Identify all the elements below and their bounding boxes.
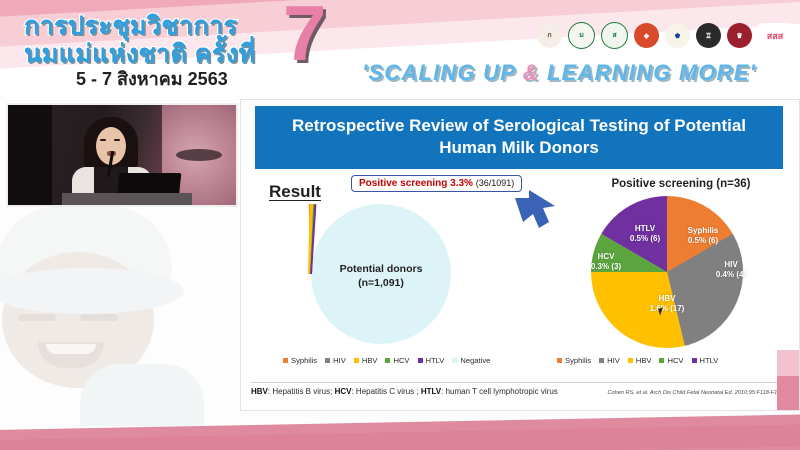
positive-screening-pie-title: Positive screening (n=36) bbox=[571, 178, 791, 190]
legend-potential-donors: Syphilis HIV HBV HCV HTLV Negative bbox=[283, 356, 490, 365]
legend-swatch-hiv-left bbox=[325, 358, 330, 363]
legend-swatch-syphilis-left bbox=[283, 358, 288, 363]
legend-label-hbv-left: HBV bbox=[362, 356, 378, 365]
logo-royal-seal-icon: ก bbox=[537, 23, 562, 48]
legend-label-htlv-right: HTLV bbox=[700, 356, 719, 365]
baby-watermark-image bbox=[0, 206, 204, 420]
conference-banner: การประชุมวิชาการ นมแม่แห่งชาติ ครั้งที่ … bbox=[0, 0, 800, 96]
logo-blue-crest-icon: ♚ bbox=[665, 23, 690, 48]
tagline-part-1: 'SCALING UP bbox=[362, 60, 523, 85]
legend-swatch-htlv-left bbox=[418, 358, 423, 363]
baby-eye-left bbox=[18, 314, 56, 321]
legend-item-hiv-left: HIV bbox=[325, 356, 346, 365]
pie-label-hcv-name: HCV bbox=[581, 252, 631, 262]
screen-root: การประชุมวิชาการ นมแม่แห่งชาติ ครั้งที่ … bbox=[0, 0, 800, 450]
slide-pink-accent-upper bbox=[777, 350, 799, 376]
pie-label-syphilis: Syphilis 0.5% (6) bbox=[673, 226, 733, 247]
slide-citation: Cohen RS, et al. Arch Dis Child Fetal Ne… bbox=[607, 390, 791, 396]
baby-teeth bbox=[46, 344, 96, 354]
tagline-ampersand: & bbox=[523, 60, 540, 85]
legend-swatch-hbv-left bbox=[354, 358, 359, 363]
callout-highlight-text: Positive screening 3.3% bbox=[359, 178, 473, 189]
positive-screening-callout: Positive screening 3.3% (36/1091) bbox=[351, 175, 522, 192]
legend-label-hiv-right: HIV bbox=[607, 356, 620, 365]
pie-label-hbv: HBV 1.6% (17) bbox=[637, 294, 697, 315]
logo-maroon-seal-icon: ♛ bbox=[727, 23, 752, 48]
pie-label-hiv: HIV 0.4% (4) bbox=[707, 260, 755, 281]
banner-edition-number: 7 bbox=[283, 0, 326, 72]
abbrev-hbv: HBV bbox=[251, 387, 268, 396]
logo-black-seal-icon: ♖ bbox=[696, 23, 721, 48]
pie-label-htlv-value: 0.5% (6) bbox=[619, 234, 671, 244]
sponsor-logo-row: ก ม ส ◈ ♚ ♖ ♛ สสส bbox=[537, 22, 792, 49]
legend-item-syphilis-right: Syphilis bbox=[557, 356, 591, 365]
slide-title: Retrospective Review of Serological Test… bbox=[255, 106, 783, 169]
baby-hat-brim bbox=[0, 268, 184, 314]
callout-detail-text: (36/1091) bbox=[476, 178, 515, 188]
banner-tagline: 'SCALING UP & LEARNING MORE' bbox=[362, 60, 756, 86]
abbrev-hcv: HCV bbox=[335, 387, 352, 396]
pie-label-syphilis-value: 0.5% (6) bbox=[673, 236, 733, 246]
logo-sss-wordmark-icon: สสส bbox=[758, 23, 792, 48]
legend-item-hiv-right: HIV bbox=[599, 356, 620, 365]
pie-label-hiv-value: 0.4% (4) bbox=[707, 270, 755, 280]
legend-label-hcv-right: HCV bbox=[667, 356, 683, 365]
legend-label-hcv-left: HCV bbox=[393, 356, 409, 365]
abbreviation-key: HBV: Hepatitis B virus; HCV: Hepatitis C… bbox=[251, 387, 558, 396]
baby-eye-right bbox=[80, 314, 118, 321]
speaker-eye-right bbox=[114, 139, 120, 141]
legend-label-hbv-right: HBV bbox=[636, 356, 652, 365]
video-dark-left-panel bbox=[8, 105, 52, 205]
potential-donors-center-label: Potential donors (n=1,091) bbox=[301, 262, 461, 290]
legend-swatch-hcv-right bbox=[659, 358, 664, 363]
speaker-video-panel[interactable] bbox=[6, 103, 238, 207]
video-blurred-eye bbox=[176, 149, 222, 161]
legend-swatch-syphilis-right bbox=[557, 358, 562, 363]
legend-label-syphilis-right: Syphilis bbox=[565, 356, 591, 365]
legend-item-syphilis-left: Syphilis bbox=[283, 356, 317, 365]
down-right-arrow-icon bbox=[513, 188, 557, 232]
legend-swatch-hcv-left bbox=[385, 358, 390, 363]
legend-swatch-negative-left bbox=[452, 358, 457, 363]
legend-label-negative-left: Negative bbox=[460, 356, 490, 365]
pie-label-hbv-name: HBV bbox=[637, 294, 697, 304]
result-heading: Result bbox=[269, 182, 321, 202]
logo-green-circle-icon: ส bbox=[601, 22, 628, 49]
podium bbox=[62, 193, 192, 207]
speaker-eye-left bbox=[100, 139, 106, 141]
pie-label-syphilis-name: Syphilis bbox=[673, 226, 733, 236]
potential-donors-label-line1: Potential donors bbox=[301, 262, 461, 276]
legend-item-hcv-left: HCV bbox=[385, 356, 409, 365]
bottom-decorative-band bbox=[0, 412, 800, 450]
slide-footnote: HBV: Hepatitis B virus; HCV: Hepatitis C… bbox=[251, 382, 791, 396]
abbrev-htlv-desc: : human T cell lymphotropic virus bbox=[441, 387, 558, 396]
tagline-part-2: LEARNING MORE' bbox=[540, 60, 756, 85]
legend-item-htlv-right: HTLV bbox=[692, 356, 719, 365]
legend-item-htlv-left: HTLV bbox=[418, 356, 445, 365]
pie-label-hiv-name: HIV bbox=[707, 260, 755, 270]
presentation-slide: Retrospective Review of Serological Test… bbox=[240, 99, 800, 411]
legend-swatch-hiv-right bbox=[599, 358, 604, 363]
legend-label-htlv-left: HTLV bbox=[426, 356, 445, 365]
pie-label-hbv-value: 1.6% (17) bbox=[637, 304, 697, 314]
pie-label-hcv: HCV 0.3% (3) bbox=[581, 252, 631, 273]
slide-pink-accent-lower bbox=[777, 376, 799, 410]
pie-label-htlv: HTLV 0.5% (6) bbox=[619, 224, 671, 245]
logo-green-shield-icon: ม bbox=[568, 22, 595, 49]
pie-label-htlv-name: HTLV bbox=[619, 224, 671, 234]
abbrev-htlv: HTLV bbox=[421, 387, 441, 396]
legend-item-hcv-right: HCV bbox=[659, 356, 683, 365]
pie-label-hcv-value: 0.3% (3) bbox=[581, 262, 631, 272]
banner-conference-date: 5 - 7 สิงหาคม 2563 bbox=[76, 64, 228, 93]
legend-item-hbv-left: HBV bbox=[354, 356, 378, 365]
potential-donors-label-line2: (n=1,091) bbox=[301, 276, 461, 290]
abbrev-hbv-desc: : Hepatitis B virus; bbox=[268, 387, 335, 396]
legend-item-negative-left: Negative bbox=[452, 356, 490, 365]
legend-positive-screening: Syphilis HIV HBV HCV HTLV bbox=[557, 356, 718, 365]
legend-item-hbv-right: HBV bbox=[628, 356, 652, 365]
legend-swatch-hbv-right bbox=[628, 358, 633, 363]
legend-label-hiv-left: HIV bbox=[333, 356, 346, 365]
legend-swatch-htlv-right bbox=[692, 358, 697, 363]
abbrev-hcv-desc: : Hepatitis C virus ; bbox=[351, 387, 420, 396]
legend-label-syphilis-left: Syphilis bbox=[291, 356, 317, 365]
logo-red-garuda-icon: ◈ bbox=[634, 23, 659, 48]
